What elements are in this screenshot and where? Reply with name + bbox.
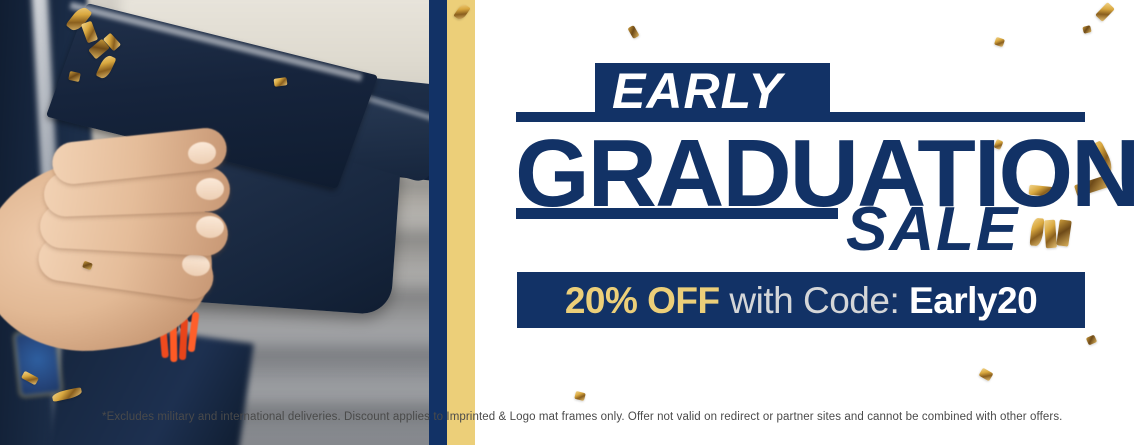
divider-rule-middle [516,208,838,219]
navy-stripe [429,0,447,445]
gold-stripe [447,0,475,445]
disclaimer-text: *Excludes military and international del… [102,411,1062,423]
confetti-piece [627,25,639,39]
confetti-piece [1082,25,1091,34]
confetti-piece [574,391,586,401]
headline-early: EARLY [612,66,783,116]
confetti-piece [1086,335,1097,346]
confetti-piece [1095,2,1115,22]
confetti-piece [979,368,994,382]
graduation-photo [0,0,429,445]
headline-sale: SALE [846,199,1019,261]
promo-code-bar[interactable]: 20% OFF with Code: Early20 [517,272,1085,328]
promo-text: 20% OFF with Code: Early20 [565,282,1037,319]
confetti-piece [994,37,1005,47]
promo-discount: 20% OFF [565,280,720,321]
promo-code-value: Early20 [909,280,1037,321]
promotional-banner: EARLY GRADUATION SALE 20% OFF with Code:… [0,0,1140,445]
promo-connector: with Code: [720,280,909,321]
promo-content: EARLY GRADUATION SALE 20% OFF with Code:… [475,0,1140,445]
